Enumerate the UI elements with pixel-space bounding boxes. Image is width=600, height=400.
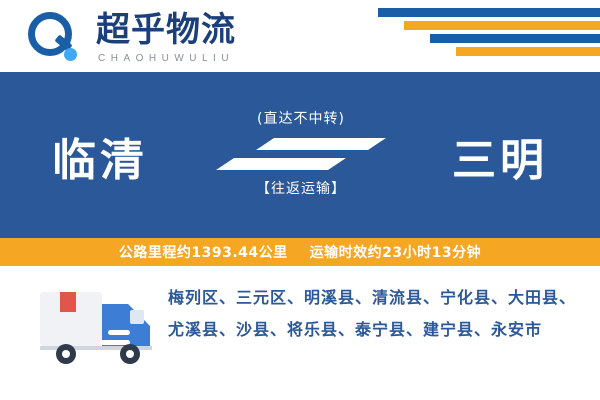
route-middle: (直达不中转) 【往返运输】 — [216, 108, 386, 198]
stripe-blue-1 — [378, 8, 600, 17]
stripe-orange-1 — [404, 21, 600, 30]
brand-name-cn: 超乎物流 — [96, 10, 236, 50]
logistics-poster: 超乎物流 CHAOHUWULIU 临清 (直达不中转) 【往返运输】 三明 公路 — [0, 0, 600, 400]
circle-logistics-logo-icon — [28, 12, 80, 64]
route-note-bottom: 【往返运输】 — [216, 178, 386, 198]
coverage-line-2: 尤溪县、沙县、将乐县、泰宁县、建宁县、永安市 — [168, 314, 580, 346]
coverage-line-1: 梅列区、三元区、明溪县、清流县、宁化县、大田县、 — [168, 282, 580, 314]
double-arrow-svg — [216, 134, 386, 176]
stripe-orange-2 — [456, 47, 600, 56]
route-band: 临清 (直达不中转) 【往返运输】 三明 — [0, 72, 600, 238]
stripe-blue-2 — [430, 34, 600, 43]
brand-name-en: CHAOHUWULIU — [96, 53, 236, 64]
coverage-section: 梅列区、三元区、明溪县、清流县、宁化县、大田县、 尤溪县、沙县、将乐县、泰宁县、… — [0, 266, 600, 400]
origin-city: 临清 — [52, 124, 148, 188]
duration-text: 运输时效约23小时13分钟 — [310, 242, 481, 262]
delivery-truck-icon — [38, 278, 166, 374]
header: 超乎物流 CHAOHUWULIU — [0, 0, 600, 72]
logo-dot — [64, 48, 77, 61]
destination-city: 三明 — [452, 124, 548, 188]
coverage-list: 梅列区、三元区、明溪县、清流县、宁化县、大田县、 尤溪县、沙县、将乐县、泰宁县、… — [168, 282, 580, 346]
header-stripes — [378, 8, 600, 64]
double-arrow-icon — [216, 134, 386, 176]
brand-block: 超乎物流 CHAOHUWULIU — [96, 10, 236, 64]
route-note-top: (直达不中转) — [216, 108, 386, 128]
distance-text: 公路里程约1393.44公里 — [119, 242, 288, 262]
info-bar: 公路里程约1393.44公里 运输时效约23小时13分钟 — [0, 238, 600, 266]
